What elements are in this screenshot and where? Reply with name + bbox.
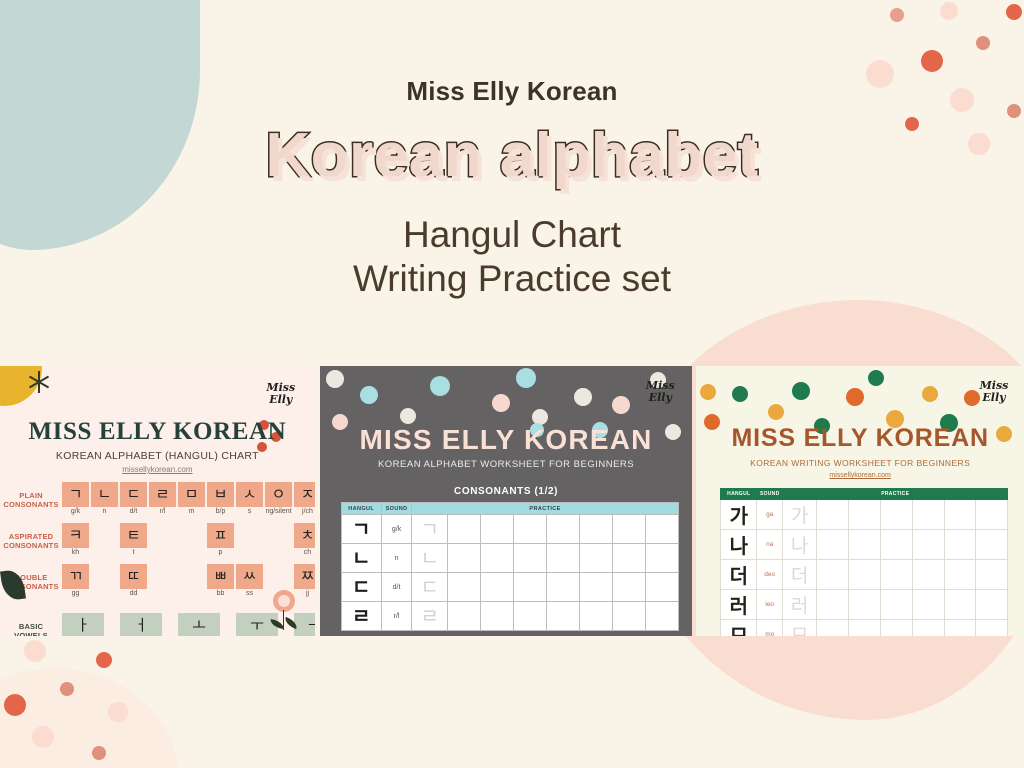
romanization-label: m [178, 508, 205, 515]
table-row: 모mo모 [721, 620, 1008, 637]
hangul-glyph: ㄹ [149, 482, 176, 507]
table-row: ㄹr/lㄹ [341, 602, 678, 631]
right-card-url: missellykorean.com [696, 472, 1024, 479]
practice-cell[interactable] [480, 544, 513, 573]
practice-cell[interactable] [944, 560, 976, 590]
practice-cell[interactable] [848, 530, 880, 560]
left-card-title: MISS ELLY KOREAN [0, 418, 315, 446]
romanization-label: p [207, 549, 234, 556]
column-header-sound: SOUND [757, 489, 783, 500]
decorative-dot [792, 382, 810, 400]
practice-cell[interactable] [447, 602, 480, 631]
decorative-dot [92, 746, 106, 760]
hangul-glyph: ㅁ [178, 482, 205, 507]
miss-elly-badge: Miss Elly [638, 370, 682, 414]
practice-cell[interactable] [546, 602, 579, 631]
column-header-practice: PRACTICE [783, 489, 1008, 500]
practice-cell[interactable] [976, 500, 1008, 530]
hangul-glyph: ㄱ [62, 482, 89, 507]
table-row: 러leo러 [721, 590, 1008, 620]
decorative-dot [60, 682, 74, 696]
left-card-subtitle: KOREAN ALPHABET (HANGUL) CHART [0, 450, 315, 462]
decorative-dot [4, 694, 26, 716]
pink-blob-bottom-left [0, 668, 180, 768]
decorative-dot [492, 394, 510, 412]
romanization-label: b/p [207, 508, 234, 515]
hangul-cell: ㅂb/p [207, 482, 234, 515]
table-row: 가ga가 [721, 500, 1008, 530]
left-card-url: missellykorean.com [0, 465, 315, 474]
hangul-glyph: ㅅ [236, 482, 263, 507]
sparkle-icon [28, 371, 50, 393]
column-header-hangul: HANGUL [341, 503, 381, 515]
hangul-glyph: ㅍ [207, 523, 234, 548]
practice-cell[interactable] [880, 560, 912, 590]
decorative-dot [516, 368, 536, 388]
practice-cell[interactable] [817, 590, 849, 620]
chart-row-label: BASICVOWELS [0, 613, 62, 636]
stroke-order-cell: ㄴ [341, 544, 381, 573]
practice-cell[interactable] [848, 560, 880, 590]
practice-cell[interactable] [645, 544, 678, 573]
badge-line-2: Elly [269, 394, 292, 406]
hangul-glyph: ㅂ [207, 482, 234, 507]
practice-cell[interactable] [817, 560, 849, 590]
practice-cell[interactable] [513, 573, 546, 602]
hangul-guide-cell[interactable]: 나 [783, 530, 817, 560]
middle-card-title: MISS ELLY KOREAN [320, 424, 693, 456]
practice-cell[interactable] [976, 590, 1008, 620]
consonant-practice-table: HANGULSOUNDPRACTICEㄱg/kㄱㄴnㄴㄷd/tㄷㄹr/lㄹ [341, 502, 679, 631]
romanization-label: ss [236, 590, 263, 597]
hangul-cell: 가 [721, 500, 757, 530]
column-header-sound: SOUND [381, 503, 412, 515]
hangul-glyph: ㅉ [294, 564, 315, 589]
table-row: ㄱg/kㄱ [341, 515, 678, 544]
sound-cell: g/k [381, 515, 412, 544]
practice-cell[interactable] [848, 500, 880, 530]
hangul-cell: 나 [721, 530, 757, 560]
hangul-glyph: ㄸ [120, 564, 147, 589]
practice-cell[interactable] [546, 544, 579, 573]
romanization-label: g/k [62, 508, 89, 515]
hangul-glyph [178, 523, 205, 548]
syllable-practice-table: HANGULSOUNDPRACTICE가ga가나na나더deo더러leo러모mo… [720, 488, 1008, 636]
hangul-cell: ㅁm [178, 482, 205, 515]
table-row: ㄷd/tㄷ [341, 573, 678, 602]
practice-cell[interactable] [944, 620, 976, 637]
practice-cell[interactable] [944, 500, 976, 530]
decorative-dot [574, 388, 592, 406]
hangul-glyph [91, 523, 118, 548]
practice-cell[interactable] [944, 530, 976, 560]
stroke-order-cell: ㄹ [341, 602, 381, 631]
hangul-guide-cell[interactable]: 러 [783, 590, 817, 620]
hangul-cell-empty [91, 523, 118, 556]
hangul-cell-empty [149, 523, 176, 556]
decorative-dot [108, 702, 128, 722]
subtitle-line-2: Writing Practice set [0, 257, 1024, 301]
hangul-glyph-guide: ㄹ [412, 602, 446, 630]
practice-cell[interactable] [645, 573, 678, 602]
hangul-cell: ㄲgg [62, 564, 89, 597]
middle-card-section-label: CONSONANTS (1/2) [320, 486, 693, 497]
practice-cell[interactable] [612, 515, 645, 544]
practice-cell[interactable] [480, 602, 513, 631]
hangul-glyph: ㄱ [342, 515, 381, 543]
badge-line-2: Elly [982, 392, 1005, 404]
decorative-dot [732, 386, 748, 402]
hangul-cell: 더 [721, 560, 757, 590]
hangul-guide-cell[interactable]: 더 [783, 560, 817, 590]
practice-cell[interactable] [848, 620, 880, 637]
hangul-glyph: ㅏ [62, 613, 104, 636]
table-row: 나na나 [721, 530, 1008, 560]
hangul-cell-empty [265, 523, 292, 556]
preview-card-alphabet-worksheet[interactable]: Miss Elly MISS ELLY KOREAN KOREAN ALPHAB… [320, 366, 693, 636]
brand-name: Miss Elly Korean [0, 76, 1024, 107]
decorative-dot [768, 404, 784, 420]
romanization-label: d/t [120, 508, 147, 515]
vowel-cell: ㅏa [62, 613, 104, 636]
chart-row-label: ASPIRATEDCONSONANTS [0, 523, 62, 550]
hangul-glyph: ㅌ [120, 523, 147, 548]
romanization-label: gg [62, 590, 89, 597]
hangul-glyph-guide: ㄷ [412, 573, 446, 601]
page-header: Miss Elly Korean Korean alphabet Hangul … [0, 0, 1024, 300]
column-header-practice: PRACTICE [412, 503, 678, 515]
flower-icon [267, 588, 301, 632]
hangul-glyph: ㄹ [342, 602, 381, 630]
middle-card-subtitle: KOREAN ALPHABET WORKSHEET FOR BEGINNERS [320, 459, 693, 470]
right-card-subtitle: KOREAN WRITING WORKSHEET FOR BEGINNERS [696, 458, 1024, 468]
hangul-glyph: ㅈ [294, 482, 315, 507]
hangul-glyph: ㅆ [236, 564, 263, 589]
practice-cell[interactable] [912, 500, 944, 530]
right-card-title: MISS ELLY KOREAN [696, 424, 1024, 453]
practice-cell[interactable] [912, 530, 944, 560]
hangul-glyph: ㄴ [342, 544, 381, 572]
chart-row-label: PLAINCONSONANTS [0, 482, 62, 509]
hangul-cell: ㅈj/ch [294, 482, 315, 515]
hangul-glyph [149, 523, 176, 548]
romanization-label: ng/silent [265, 508, 292, 515]
hangul-cell-empty [236, 523, 263, 556]
decorative-dot [868, 370, 884, 386]
decorative-dot [400, 408, 416, 424]
hangul-glyph: ㄷ [120, 482, 147, 507]
practice-cell[interactable] [944, 590, 976, 620]
hangul-cell: ㅇng/silent [265, 482, 292, 515]
hangul-glyph: ㅗ [178, 613, 220, 636]
sound-cell: leo [757, 590, 783, 620]
hangul-glyph: ㄲ [62, 564, 89, 589]
practice-cell[interactable] [912, 590, 944, 620]
hangul-glyph [265, 523, 292, 548]
romanization-label: s [236, 508, 263, 515]
hangul-guide-cell[interactable]: 모 [783, 620, 817, 637]
hangul-cell: ㅃbb [207, 564, 234, 597]
practice-cell[interactable] [645, 602, 678, 631]
hangul-glyph: ㅇ [265, 482, 292, 507]
chart-row: ASPIRATEDCONSONANTSㅋkhㅌtㅍpㅊch [0, 523, 315, 561]
sound-cell: ga [757, 500, 783, 530]
preview-card-writing-worksheet[interactable]: Miss Elly MISS ELLY KOREAN KOREAN WRITIN… [696, 366, 1024, 636]
practice-cell[interactable]: ㄱ [412, 515, 447, 544]
practice-cell[interactable] [612, 544, 645, 573]
hangul-glyph-guide: ㄴ [412, 544, 446, 572]
sound-cell: d/t [381, 573, 412, 602]
practice-cell[interactable] [880, 620, 912, 637]
practice-cell[interactable] [880, 530, 912, 560]
stroke-order-cell: ㄱ [341, 515, 381, 544]
practice-cell[interactable] [447, 573, 480, 602]
hangul-cell-empty [178, 564, 205, 597]
romanization-label: kh [62, 549, 89, 556]
practice-cell[interactable] [612, 602, 645, 631]
hangul-cell: ㄴn [91, 482, 118, 515]
practice-cell[interactable] [976, 530, 1008, 560]
sound-cell: n [381, 544, 412, 573]
decorative-dot [846, 388, 864, 406]
hangul-glyph [265, 564, 292, 589]
stroke-order-cell: ㄷ [341, 573, 381, 602]
preview-card-hangul-chart[interactable]: Miss Elly MISS ELLY KOREAN KOREAN ALPHAB… [0, 366, 315, 636]
hangul-glyph-guide: ㄱ [412, 515, 446, 543]
hangul-cell: 러 [721, 590, 757, 620]
hangul-glyph [91, 564, 118, 589]
hangul-cell: ㄱg/k [62, 482, 89, 515]
practice-cell[interactable] [912, 560, 944, 590]
hangul-glyph: ㅓ [120, 613, 162, 636]
hangul-glyph: ㄷ [342, 573, 381, 601]
practice-cell[interactable] [976, 620, 1008, 637]
page-title: Korean alphabet [0, 125, 1024, 187]
table-row: ㄴnㄴ [341, 544, 678, 573]
decorative-dot [430, 376, 450, 396]
practice-cell[interactable] [848, 590, 880, 620]
chart-row: PLAINCONSONANTSㄱg/kㄴnㄷd/tㄹr/lㅁmㅂb/pㅅsㅇng… [0, 482, 315, 520]
decorative-dot [922, 386, 938, 402]
practice-cell[interactable] [480, 573, 513, 602]
practice-cell[interactable] [480, 515, 513, 544]
practice-cell[interactable]: ㄴ [412, 544, 447, 573]
hangul-glyph: ㄴ [91, 482, 118, 507]
subtitle-line-1: Hangul Chart [0, 213, 1024, 257]
practice-cell[interactable] [513, 544, 546, 573]
practice-cell[interactable] [645, 515, 678, 544]
practice-cell[interactable] [447, 544, 480, 573]
hangul-cell: ㄹr/l [149, 482, 176, 515]
hangul-glyph: ㅊ [294, 523, 315, 548]
practice-cell[interactable] [579, 573, 612, 602]
practice-cell[interactable] [817, 620, 849, 637]
romanization-label: bb [207, 590, 234, 597]
decorative-dot [326, 370, 344, 388]
sound-cell: r/l [381, 602, 412, 631]
practice-cell[interactable] [880, 590, 912, 620]
practice-cell[interactable] [817, 530, 849, 560]
decorative-dot [700, 384, 716, 400]
hangul-cell: ㅍp [207, 523, 234, 556]
romanization-label: dd [120, 590, 147, 597]
hangul-guide-cell[interactable]: 가 [783, 500, 817, 530]
hangul-cell: ㅆss [236, 564, 263, 597]
hangul-cell: ㅌt [120, 523, 147, 556]
hangul-cell: ㅅs [236, 482, 263, 515]
romanization-label: t [120, 549, 147, 556]
hangul-glyph: ㅃ [207, 564, 234, 589]
miss-elly-badge: Miss Elly [972, 370, 1016, 414]
hangul-cell: ㄷd/t [120, 482, 147, 515]
hangul-cell: ㅋkh [62, 523, 89, 556]
vowel-cell: ㅗo [178, 613, 220, 636]
hangul-cell: ㅊch [294, 523, 315, 556]
practice-cell[interactable] [447, 515, 480, 544]
hangul-cell-empty [178, 523, 205, 556]
practice-cell[interactable] [579, 602, 612, 631]
badge-line-2: Elly [649, 392, 672, 404]
hangul-cell: 모 [721, 620, 757, 637]
sound-cell: mo [757, 620, 783, 637]
column-header-hangul: HANGUL [721, 489, 757, 500]
practice-cell[interactable] [513, 515, 546, 544]
decorative-dot [32, 726, 54, 748]
romanization-label: j/ch [294, 508, 315, 515]
decorative-dot [360, 386, 378, 404]
hangul-glyph [236, 523, 263, 548]
practice-cell[interactable] [817, 500, 849, 530]
preview-card-strip: Miss Elly MISS ELLY KOREAN KOREAN ALPHAB… [0, 366, 1024, 636]
hangul-glyph [178, 564, 205, 589]
decorative-dot [24, 640, 46, 662]
romanization-label: ch [294, 549, 315, 556]
sound-cell: deo [757, 560, 783, 590]
practice-cell[interactable] [612, 573, 645, 602]
decorative-dot [96, 652, 112, 668]
romanization-label: r/l [149, 508, 176, 515]
decorative-dot [612, 396, 630, 414]
practice-cell[interactable]: ㄷ [412, 573, 447, 602]
practice-cell[interactable] [546, 515, 579, 544]
practice-cell[interactable] [546, 573, 579, 602]
hangul-cell-empty [91, 564, 118, 597]
vowel-cell: ㅓeo [120, 613, 162, 636]
hangul-glyph [149, 564, 176, 589]
practice-cell[interactable]: ㄹ [412, 602, 447, 631]
practice-cell[interactable] [976, 560, 1008, 590]
page-subtitle: Hangul Chart Writing Practice set [0, 213, 1024, 300]
hangul-cell-empty [149, 564, 176, 597]
practice-cell[interactable] [912, 620, 944, 637]
hangul-glyph: ㅋ [62, 523, 89, 548]
sound-cell: na [757, 530, 783, 560]
practice-cell[interactable] [579, 544, 612, 573]
hangul-cell: ㄸdd [120, 564, 147, 597]
practice-cell[interactable] [513, 602, 546, 631]
practice-cell[interactable] [579, 515, 612, 544]
practice-cell[interactable] [880, 500, 912, 530]
table-row: 더deo더 [721, 560, 1008, 590]
romanization-label: n [91, 508, 118, 515]
miss-elly-badge: Miss Elly [259, 372, 303, 416]
